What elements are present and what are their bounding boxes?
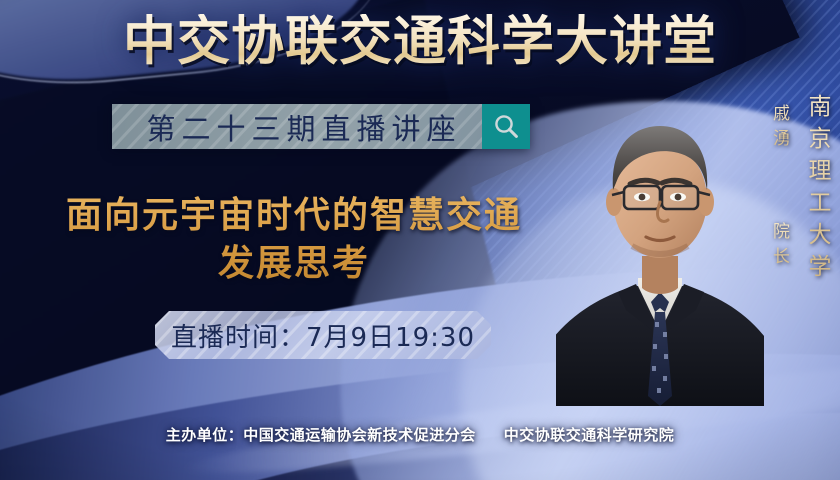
broadcast-time-text: 直播时间：7月9日19:30 bbox=[171, 317, 475, 354]
organizer-one: 中国交通运输协会新技术促进分会 bbox=[243, 426, 476, 444]
episode-field[interactable]: 第二十三期直播讲座 bbox=[112, 104, 482, 149]
search-button[interactable] bbox=[482, 104, 530, 149]
episode-search-bar[interactable]: 第二十三期直播讲座 bbox=[112, 104, 530, 149]
speaker-name: 戚湧 bbox=[767, 104, 792, 154]
lecture-title-line1: 面向元宇宙时代的智慧交通 bbox=[66, 195, 522, 236]
lecture-title: 面向元宇宙时代的智慧交通 发展思考 bbox=[24, 192, 564, 287]
broadcast-time-badge: 直播时间：7月9日19:30 bbox=[155, 311, 491, 359]
footer-organizers: 主办单位：中国交通运输协会新技术促进分会中交协联交通科学研究院 bbox=[0, 424, 840, 445]
speaker-affiliation: 南京理工大学 bbox=[800, 94, 834, 286]
organizer-two: 中交协联交通科学研究院 bbox=[504, 426, 675, 444]
lecture-title-line2: 发展思考 bbox=[24, 240, 564, 288]
search-icon bbox=[493, 113, 520, 140]
speaker-role: 院长 bbox=[767, 222, 792, 272]
live-lecture-poster: 中交协联交通科学大讲堂 第二十三期直播讲座 面向元宇宙时代的智慧交通 发展思考 … bbox=[0, 0, 840, 480]
speaker-portrait bbox=[556, 96, 764, 406]
episode-label: 第二十三期直播讲座 bbox=[132, 106, 461, 148]
page-title: 中交协联交通科学大讲堂 bbox=[0, 14, 840, 70]
organizer-label: 主办单位： bbox=[166, 426, 244, 444]
